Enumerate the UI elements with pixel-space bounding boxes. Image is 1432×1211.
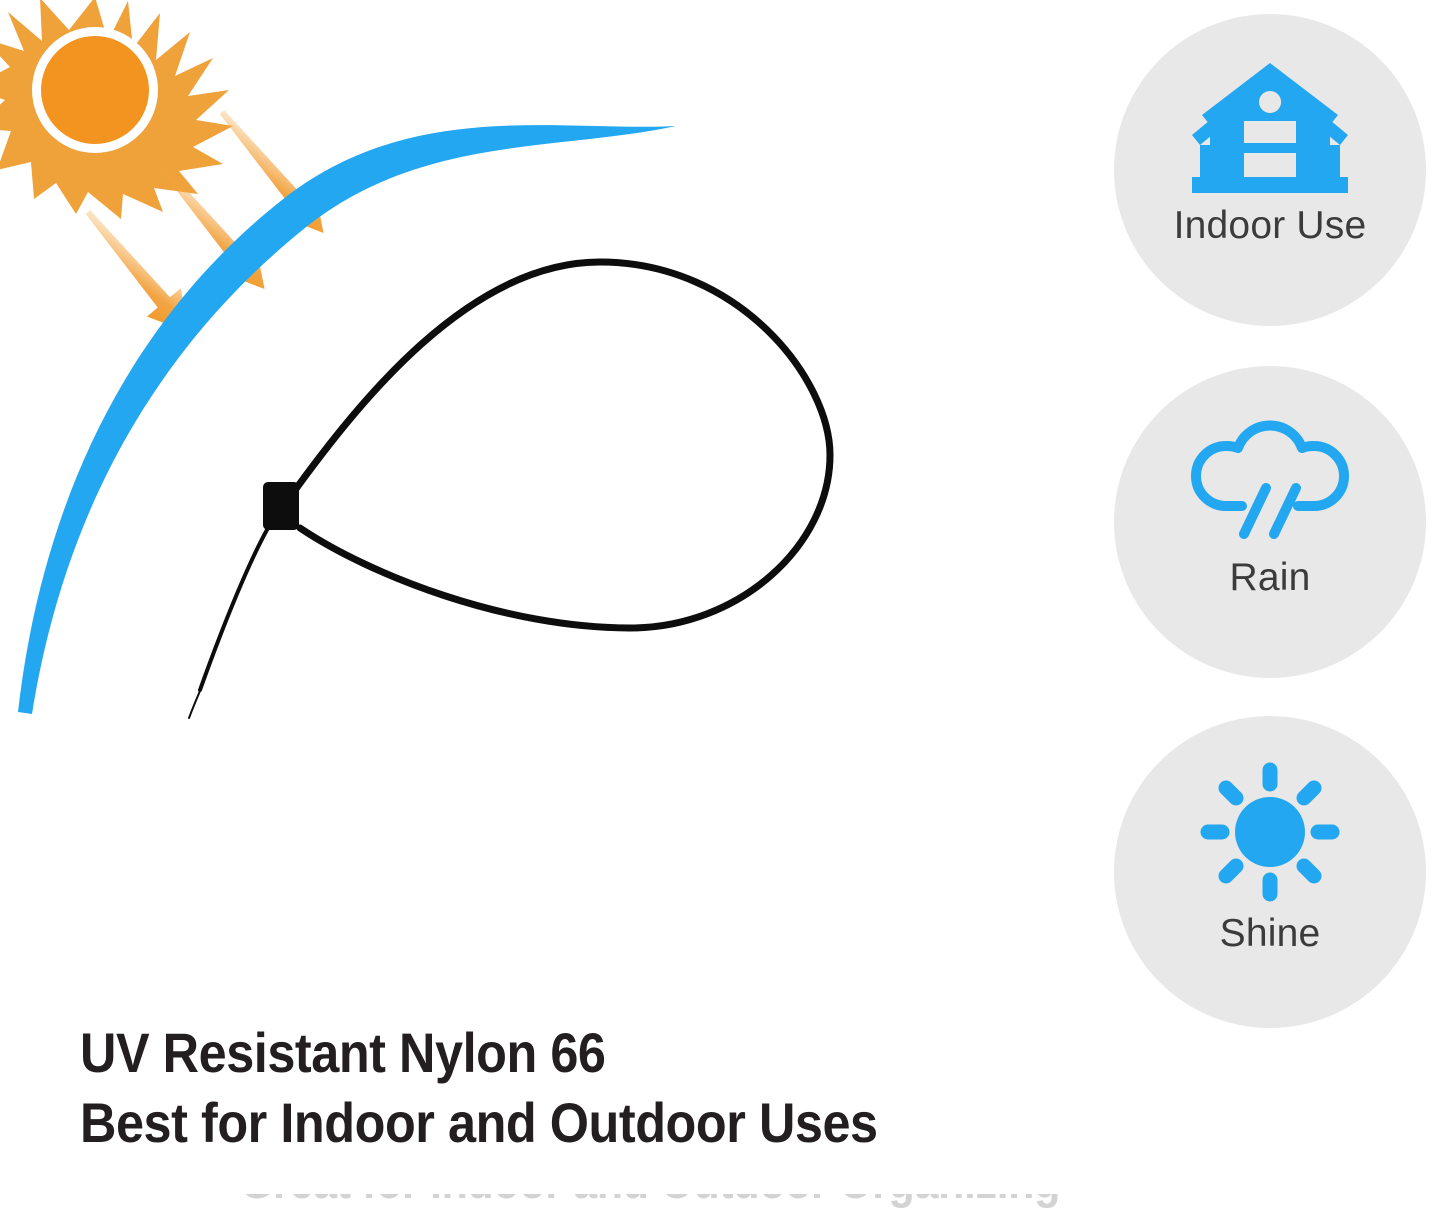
feature-label: Indoor Use: [1174, 206, 1367, 245]
feature-label: Rain: [1229, 558, 1310, 597]
feature-badge-indoor-use[interactable]: Indoor Use: [1114, 14, 1426, 326]
cloud-outline: [1196, 425, 1344, 506]
clipped-subheadline-text: Great for Indoor and Outdoor Organizing: [240, 1194, 1140, 1211]
product-feature-graphic: Indoor Use Rain: [0, 0, 1432, 1211]
house-core: [1210, 67, 1330, 177]
sun-icon: [1197, 760, 1343, 904]
house-icon: [1186, 54, 1354, 204]
cable-tie-head: [263, 482, 299, 530]
cable-tie-loop: [290, 262, 830, 628]
cable-tie-tail-tip: [189, 684, 203, 718]
house-base: [1192, 177, 1348, 193]
feature-badge-shine[interactable]: Shine: [1114, 716, 1426, 1028]
rain-cloud-icon: [1190, 402, 1350, 550]
feature-badge-rain[interactable]: Rain: [1114, 366, 1426, 678]
cable-tie-loop-icon: [189, 262, 830, 718]
sun-disc: [1235, 797, 1305, 867]
headline-line-2: Best for Indoor and Outdoor Uses: [80, 1088, 962, 1158]
uv-resistance-illustration: [0, 0, 1060, 1000]
sun-starburst-icon: [0, 0, 233, 219]
sun-core: [41, 36, 149, 144]
headline-block: UV Resistant Nylon 66 Best for Indoor an…: [80, 1018, 1060, 1158]
rain-streaks: [1244, 488, 1296, 534]
headline-line-1: UV Resistant Nylon 66: [80, 1018, 962, 1088]
clipped-subheadline: Great for Indoor and Outdoor Organizing: [240, 1194, 1240, 1211]
feature-label: Shine: [1220, 914, 1321, 953]
cable-tie-tail: [200, 528, 268, 690]
